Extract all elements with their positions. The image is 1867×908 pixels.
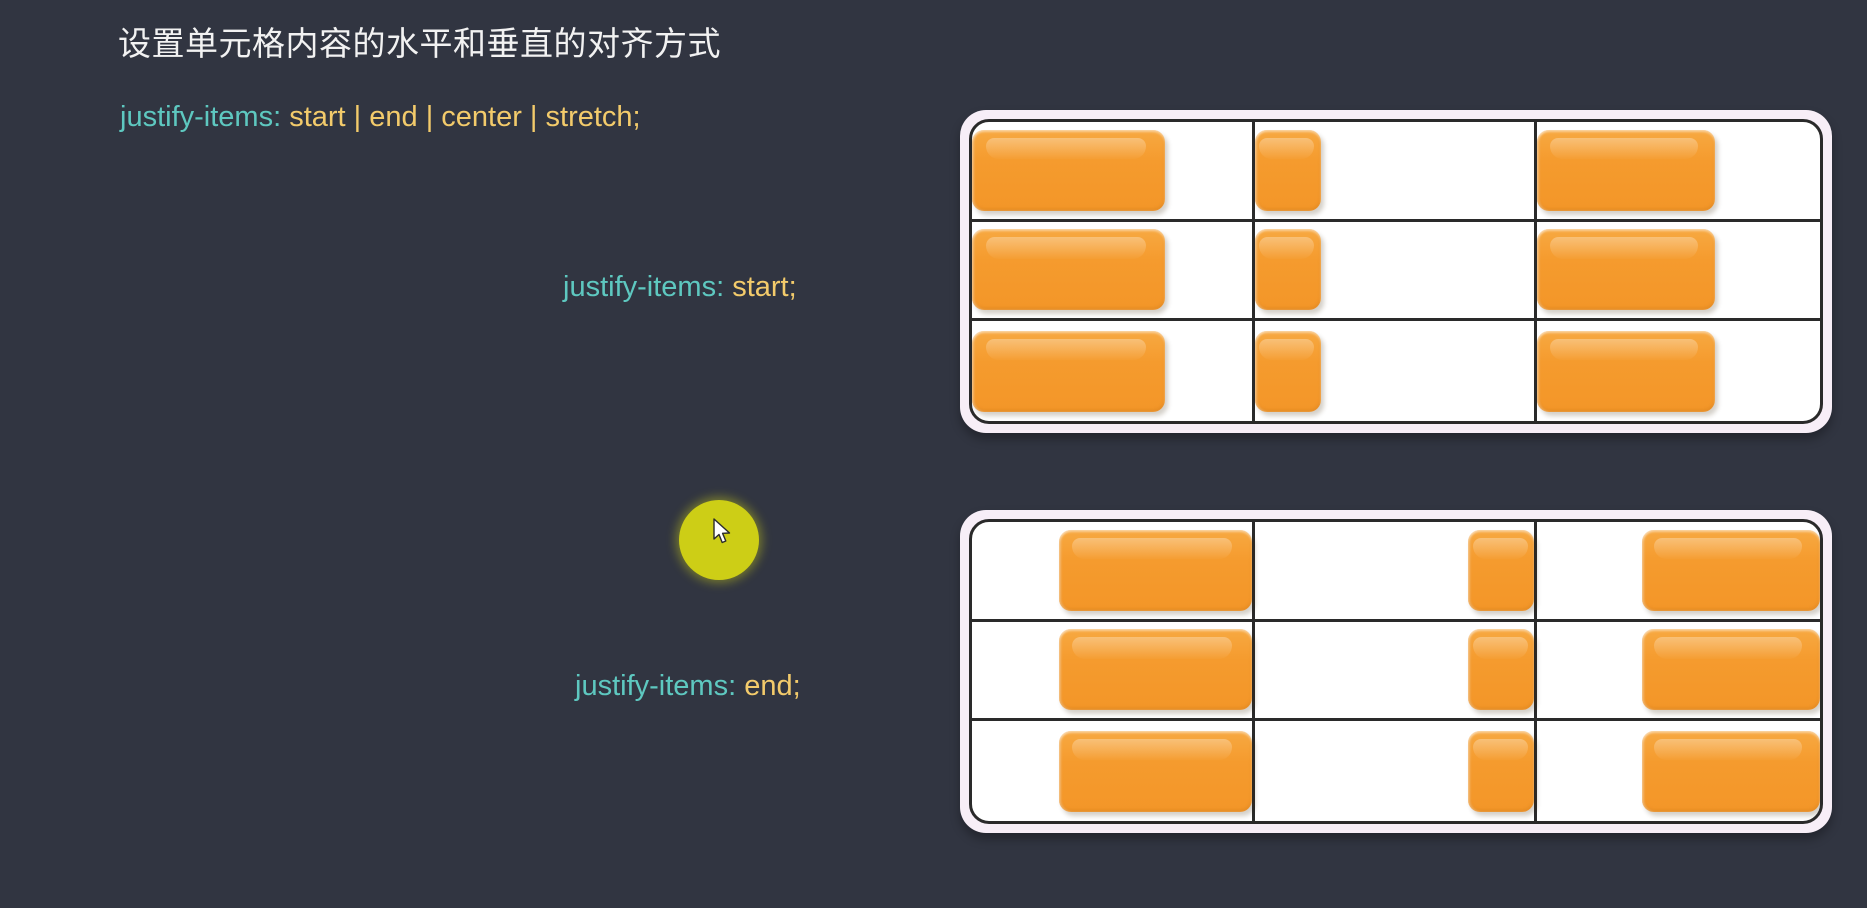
grid-container-start xyxy=(969,119,1823,424)
click-highlight-halo xyxy=(679,500,759,580)
grid-item xyxy=(1537,229,1715,310)
grid-item xyxy=(1255,331,1321,412)
grid-cell xyxy=(1255,721,1538,821)
grid-item xyxy=(1255,229,1321,310)
grid-item xyxy=(1059,731,1252,812)
grid-cell xyxy=(1537,522,1820,622)
grid-cell xyxy=(1255,122,1538,222)
syntax-declaration: justify-items: start | end | center | st… xyxy=(120,98,641,136)
grid-item xyxy=(1642,731,1820,812)
grid-item xyxy=(1642,629,1820,710)
grid-item xyxy=(1642,530,1820,611)
grid-cell xyxy=(972,721,1255,821)
grid-item xyxy=(1468,731,1534,812)
grid-cell xyxy=(1537,222,1820,322)
grid-item xyxy=(1468,530,1534,611)
grid-cell xyxy=(1255,522,1538,622)
grid-item xyxy=(1059,629,1252,710)
grid-cell xyxy=(972,321,1255,421)
page-title: 设置单元格内容的水平和垂直的对齐方式 xyxy=(118,22,721,66)
grid-cell xyxy=(1537,622,1820,722)
grid-cell xyxy=(972,122,1255,222)
grid-item xyxy=(972,130,1165,211)
grid-cell xyxy=(1255,622,1538,722)
grid-item xyxy=(1255,130,1321,211)
syntax-value-list: start | end | center | stretch; xyxy=(281,101,640,133)
syntax-property-name: justify-items: xyxy=(120,101,281,133)
case-label-start-value: start; xyxy=(724,271,797,303)
grid-item xyxy=(1537,331,1715,412)
grid-cell xyxy=(972,522,1255,622)
grid-panel-justify-items-start xyxy=(960,110,1832,433)
case-label-start: justify-items: start; xyxy=(563,268,797,306)
case-label-end-property: justify-items: xyxy=(575,670,736,702)
grid-cell xyxy=(1537,721,1820,821)
grid-item xyxy=(972,331,1165,412)
grid-cell xyxy=(1255,222,1538,322)
case-label-end-value: end; xyxy=(736,670,801,702)
grid-cell xyxy=(1537,321,1820,421)
case-label-end: justify-items: end; xyxy=(575,667,801,705)
grid-item xyxy=(1468,629,1534,710)
grid-cell xyxy=(972,222,1255,322)
grid-container-end xyxy=(969,519,1823,824)
grid-cell xyxy=(972,622,1255,722)
grid-cell xyxy=(1255,321,1538,421)
grid-item xyxy=(972,229,1165,310)
grid-item xyxy=(1537,130,1715,211)
case-label-start-property: justify-items: xyxy=(563,271,724,303)
grid-item xyxy=(1059,530,1252,611)
grid-cell xyxy=(1537,122,1820,222)
grid-panel-justify-items-end xyxy=(960,510,1832,833)
